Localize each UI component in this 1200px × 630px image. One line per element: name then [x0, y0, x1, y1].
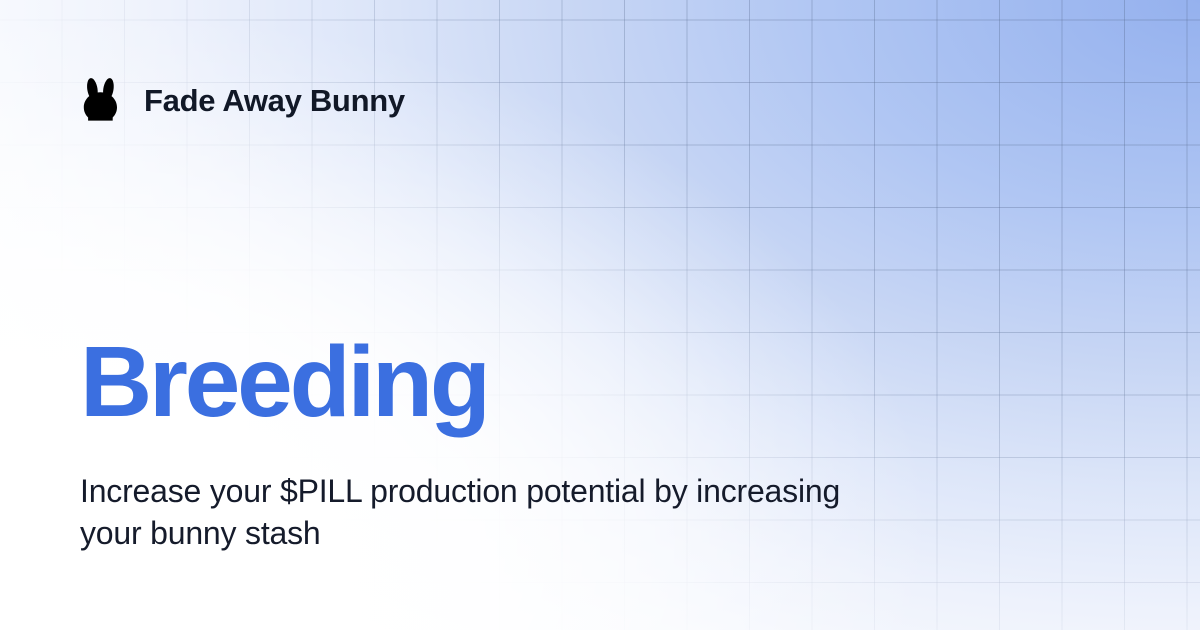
- brand-name: Fade Away Bunny: [144, 85, 405, 116]
- bunny-icon: [78, 76, 126, 124]
- card-content: Fade Away Bunny Breeding Increase your $…: [0, 0, 1200, 630]
- page-subtitle: Increase your $PILL production potential…: [80, 470, 870, 554]
- brand-lockup: Fade Away Bunny: [78, 76, 405, 124]
- page-title: Breeding: [80, 332, 488, 432]
- og-card: Fade Away Bunny Breeding Increase your $…: [0, 0, 1200, 630]
